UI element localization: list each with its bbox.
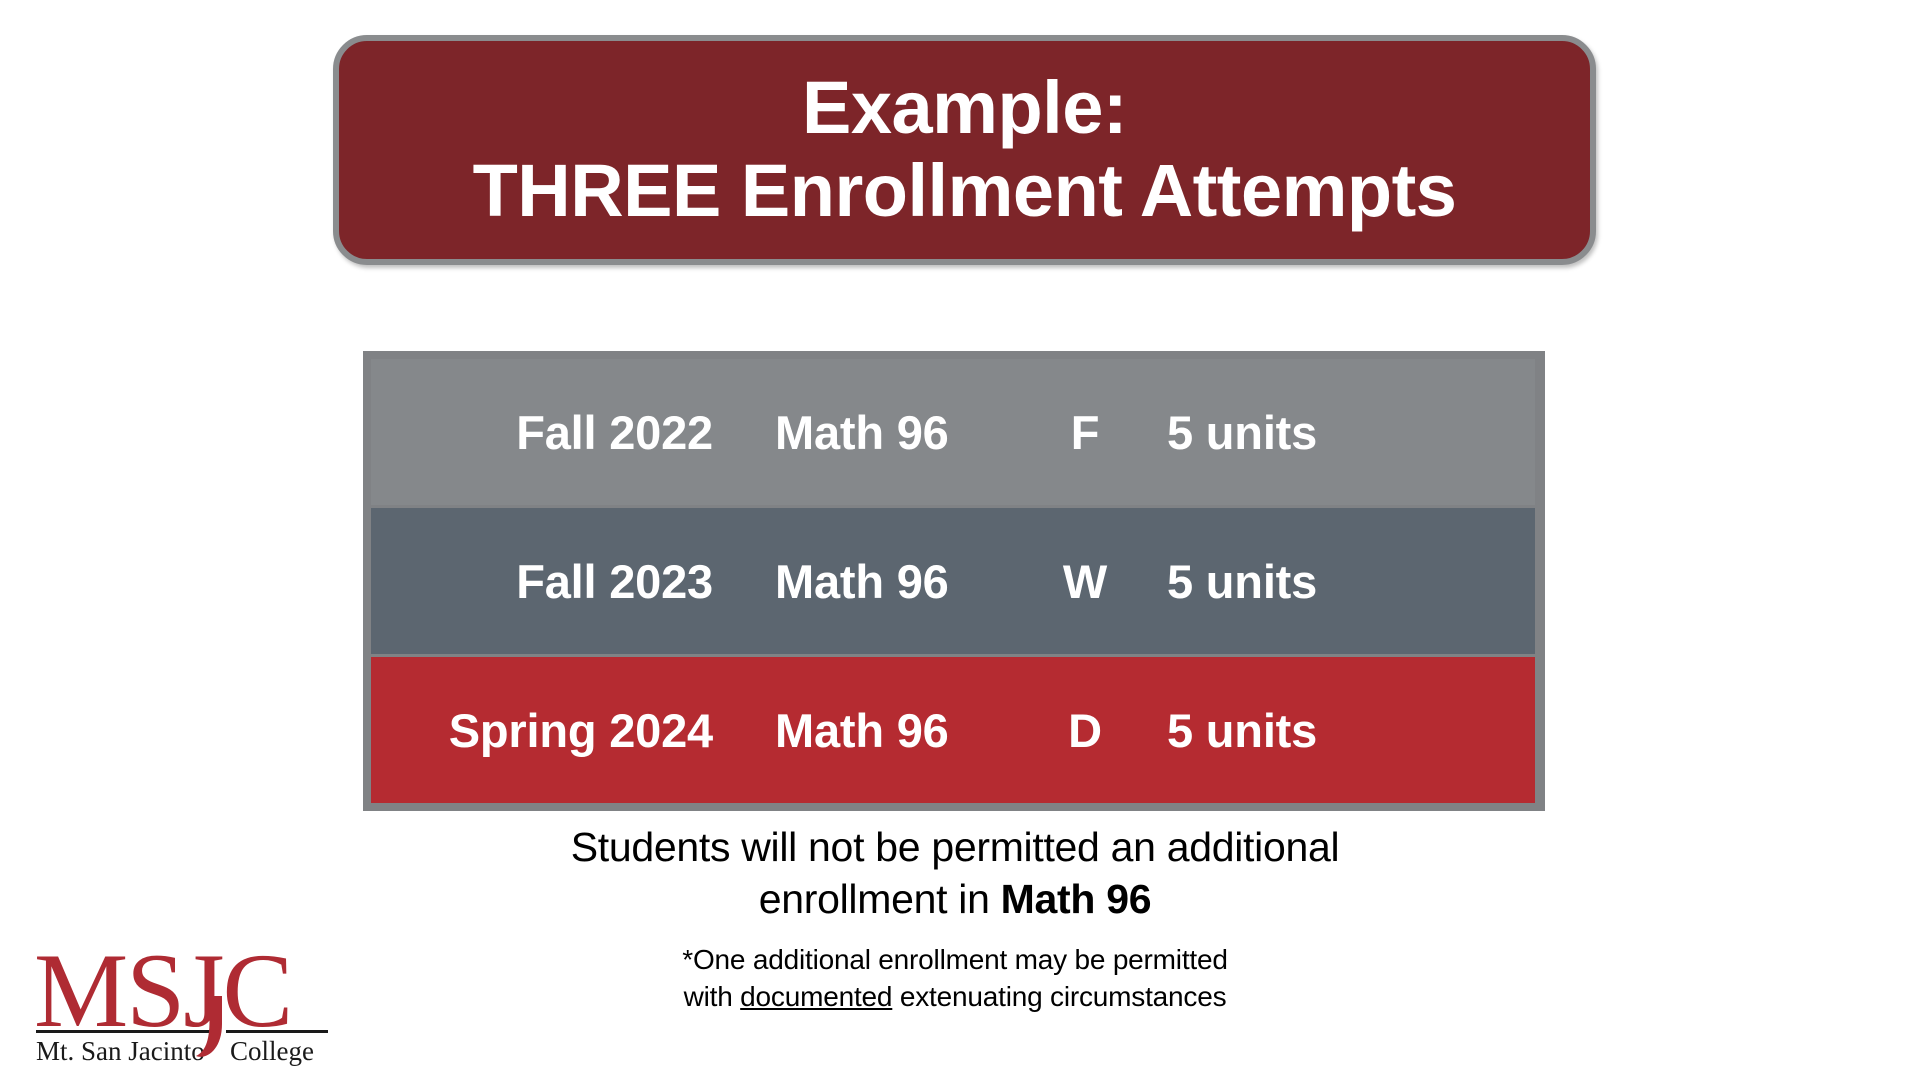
footer-note-line-2: with documented extenuating circumstance…: [360, 979, 1550, 1016]
msjc-logo-icon: MSJC Mt. San Jacinto College: [30, 938, 330, 1066]
table-row: Spring 2024 Math 96 D 5 units: [371, 657, 1535, 803]
cell-term: Spring 2024: [371, 703, 713, 758]
title-banner: Example: THREE Enrollment Attempts: [333, 35, 1596, 265]
cell-grade: D: [1025, 703, 1145, 758]
cell-units: 5 units: [1145, 405, 1427, 460]
footer-note: *One additional enrollment may be permit…: [360, 942, 1550, 1016]
footer-note-line-2-suffix: extenuating circumstances: [892, 981, 1226, 1012]
footer-statement: Students will not be permitted an additi…: [360, 822, 1550, 925]
table-row: Fall 2023 Math 96 W 5 units: [371, 508, 1535, 654]
table-row: Fall 2022 Math 96 F 5 units: [371, 359, 1535, 505]
cell-course: Math 96: [713, 554, 1025, 609]
cell-term: Fall 2023: [371, 554, 713, 609]
cell-grade: F: [1025, 405, 1145, 460]
msjc-logo: MSJC Mt. San Jacinto College: [30, 938, 330, 1066]
cell-units: 5 units: [1145, 554, 1427, 609]
cell-course: Math 96: [713, 405, 1025, 460]
footer-statement-line-1: Students will not be permitted an additi…: [360, 822, 1550, 874]
cell-grade: W: [1025, 554, 1145, 609]
cell-course: Math 96: [713, 703, 1025, 758]
footer-statement-course: Math 96: [1001, 876, 1152, 922]
msjc-logo-wordmark-left: Mt. San Jacinto: [36, 1036, 205, 1066]
footer-statement-line-2-prefix: enrollment in: [759, 876, 1001, 922]
enrollment-attempts-table: Fall 2022 Math 96 F 5 units Fall 2023 Ma…: [363, 351, 1545, 811]
footer-note-line-2-prefix: with: [684, 981, 741, 1012]
title-line-2: THREE Enrollment Attempts: [473, 150, 1457, 233]
cell-term: Fall 2022: [371, 405, 713, 460]
msjc-logo-rule-left: [36, 1030, 210, 1033]
footer-statement-line-2: enrollment in Math 96: [360, 874, 1550, 926]
footer-note-line-1: *One additional enrollment may be permit…: [360, 942, 1550, 979]
title-line-1: Example:: [802, 67, 1127, 150]
msjc-logo-rule-right: [226, 1030, 328, 1033]
cell-units: 5 units: [1145, 703, 1427, 758]
footer-note-emphasis: documented: [740, 981, 892, 1012]
msjc-logo-wordmark-right: College: [230, 1036, 314, 1066]
